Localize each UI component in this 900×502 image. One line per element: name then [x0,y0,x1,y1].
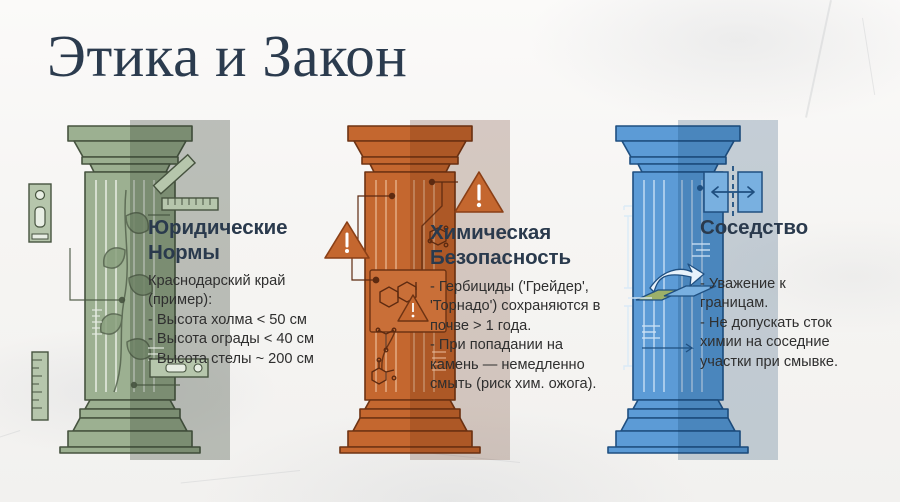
body-neighbors: - Уважение к границам. - Не допускать ст… [700,275,890,372]
warning-triangle-small-icon [322,218,372,262]
ruler-vertical-icon [28,350,52,422]
property-boundary-icon [702,166,764,218]
ruler-square-icon [158,168,220,216]
heading-legal: Юридические Нормы [148,215,328,265]
heading-neighbors: Соседство [700,215,890,240]
spirit-level-vertical-icon [26,182,54,244]
warning-triangle-icon [452,168,506,216]
page-title: Этика и Закон [47,26,407,88]
